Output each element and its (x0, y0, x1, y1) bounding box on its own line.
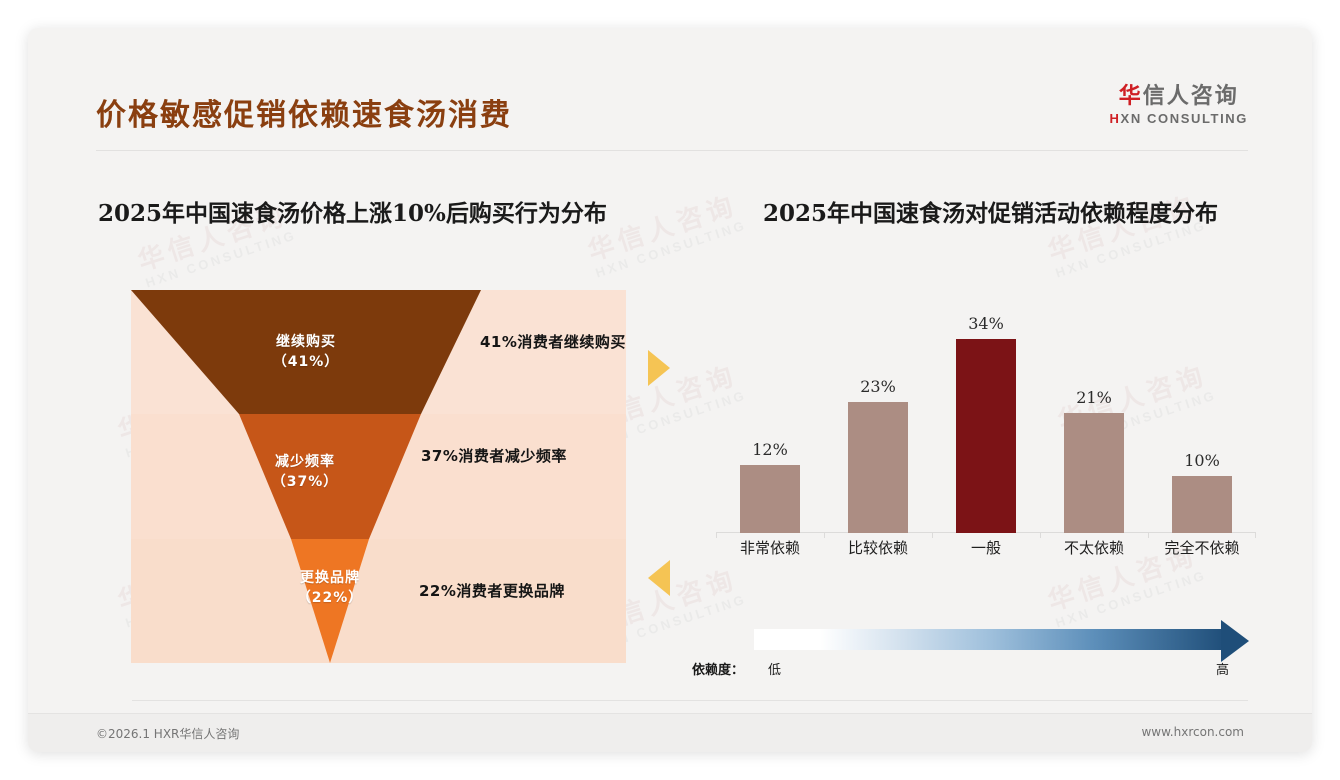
bar-column: 21% (1040, 413, 1148, 533)
gradient-bar (754, 629, 1226, 650)
funnel-chart: 继续购买 （41%） 减少频率 （37%） 更换品牌 （22%） 41%消费者继… (131, 290, 626, 663)
header-divider (96, 150, 1248, 151)
footer-bar: ©2026.1 HXR华信人咨询 www.hxrcon.com (28, 713, 1312, 752)
x-tick-label-0: 非常依赖 (716, 537, 824, 558)
bar-column: 23% (824, 402, 932, 533)
watermark-en: HXN CONSULTING (143, 225, 299, 292)
funnel-label-2-text: 减少频率 (230, 452, 380, 472)
funnel-desc-2: 37%消费者减少频率 (421, 445, 567, 466)
funnel-label-1: 继续购买 （41%） (231, 332, 381, 373)
gradient-arrow-icon (1221, 620, 1249, 662)
left-chart-title: 2025年中国速食汤价格上涨10%后购买行为分布 (98, 194, 607, 228)
bar-比较依赖[interactable] (848, 402, 908, 533)
x-axis-labels: 非常依赖 比较依赖 一般 不太依赖 完全不依赖 (716, 537, 1256, 563)
bar-column: 12% (716, 465, 824, 533)
legend-low-label: 低 (768, 659, 781, 678)
logo-en: HXN CONSULTING (1110, 111, 1248, 126)
bar-非常依赖[interactable] (740, 465, 800, 533)
funnel-desc-3: 22%消费者更换品牌 (419, 580, 565, 601)
bar-不太依赖[interactable] (1064, 413, 1124, 533)
right-chart-title: 2025年中国速食汤对促销活动依赖程度分布 (763, 194, 1218, 228)
funnel-label-1-value: （41%） (231, 352, 381, 372)
slide: 华信人咨询 HXN CONSULTING 华信人咨询 HXN CONSULTIN… (28, 28, 1312, 752)
funnel-label-2: 减少频率 （37%） (230, 452, 380, 493)
triangle-right-icon (648, 350, 670, 386)
funnel-label-3-value: （22%） (255, 588, 405, 608)
bar-value-label: 12% (716, 440, 824, 459)
logo-cn-rest: 信人咨询 (1143, 84, 1239, 109)
x-tick-label-3: 不太依赖 (1040, 537, 1148, 558)
triangle-left-icon (648, 560, 670, 596)
funnel-label-2-value: （37%） (230, 472, 380, 492)
funnel-label-3: 更换品牌 （22%） (255, 568, 405, 609)
bar-value-label: 23% (824, 377, 932, 396)
bar-value-label: 21% (1040, 388, 1148, 407)
watermark-cn: 华信人咨询 (585, 191, 743, 265)
bar-column: 34% (932, 339, 1040, 533)
funnel-label-3-text: 更换品牌 (255, 568, 405, 588)
bar-完全不依赖[interactable] (1172, 476, 1232, 533)
legend-high-label: 高 (1216, 659, 1229, 678)
logo-cn-accent: 华 (1119, 84, 1143, 109)
funnel-label-1-text: 继续购买 (231, 332, 381, 352)
x-tick-label-1: 比较依赖 (824, 537, 932, 558)
funnel-desc-1: 41%消费者继续购买 (480, 331, 626, 352)
bar-column: 10% (1148, 476, 1256, 533)
watermark-en: HXN CONSULTING (593, 215, 749, 282)
dependence-gradient-legend: 依赖度： 低 高 (716, 623, 1264, 683)
bar-value-label: 10% (1148, 451, 1256, 470)
logo-en-accent: H (1110, 111, 1121, 126)
bar-value-label: 34% (932, 314, 1040, 333)
legend-caption: 依赖度： (692, 659, 744, 678)
footer-copyright: ©2026.1 HXR华信人咨询 (96, 725, 239, 742)
footnote-divider (132, 700, 1248, 701)
page-title: 价格敏感促销依赖速食汤消费 (96, 90, 512, 134)
bar-一般[interactable] (956, 339, 1016, 533)
x-tick-label-2: 一般 (932, 537, 1040, 558)
logo-cn: 华信人咨询 (1110, 84, 1248, 109)
logo-en-rest: XN CONSULTING (1121, 111, 1248, 126)
bar-chart: 12% 23% 34% 21% 10% 非常依赖 比较依赖 一般 不太依赖 完全… (716, 308, 1256, 563)
x-tick-label-4: 完全不依赖 (1148, 537, 1256, 558)
brand-logo: 华信人咨询 HXN CONSULTING (1110, 84, 1248, 126)
footer-website[interactable]: www.hxrcon.com (1141, 725, 1244, 739)
